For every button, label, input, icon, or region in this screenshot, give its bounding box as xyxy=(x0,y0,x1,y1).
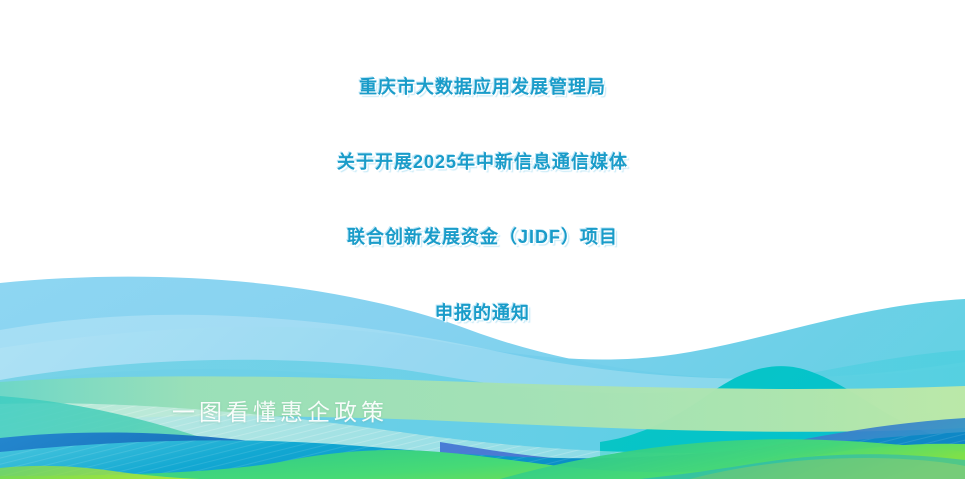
decorative-wave-background xyxy=(0,0,965,479)
policy-notice-banner: 重庆市大数据应用发展管理局 关于开展2025年中新信息通信媒体 联合创新发展资金… xyxy=(0,0,965,479)
